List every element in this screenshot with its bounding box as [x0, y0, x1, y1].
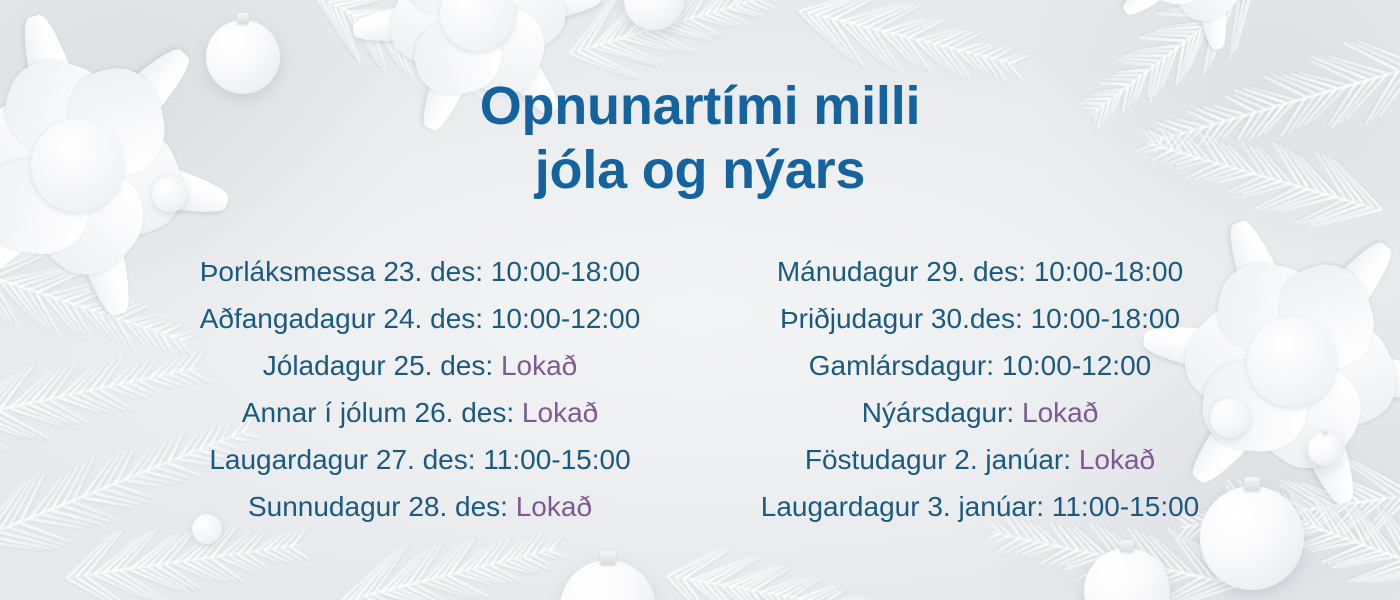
opening-hours-closed: Lokað [516, 491, 592, 522]
opening-hours-day: Sunnudagur 28. des: [248, 491, 516, 522]
opening-hours-line: Laugardagur 3. janúar: 11:00-15:00 [700, 483, 1260, 530]
opening-hours-time: 10:00-18:00 [1034, 256, 1183, 287]
opening-hours-time: 10:00-18:00 [1031, 303, 1180, 334]
opening-hours-line: Nýársdagur: Lokað [700, 389, 1260, 436]
opening-hours-day: Laugardagur 3. janúar: [761, 491, 1052, 522]
page-title: Opnunartími milli jóla og nýars [0, 74, 1400, 202]
title-line-2: jóla og nýars [0, 138, 1400, 202]
opening-hours-columns: Þorláksmessa 23. des: 10:00-18:00Aðfanga… [0, 248, 1400, 530]
opening-hours-time: 11:00-15:00 [1052, 491, 1199, 522]
opening-hours-time: 10:00-18:00 [491, 256, 640, 287]
opening-hours-day: Laugardagur 27. des: [209, 444, 483, 475]
opening-hours-line: Aðfangadagur 24. des: 10:00-12:00 [140, 295, 700, 342]
opening-hours-line: Mánudagur 29. des: 10:00-18:00 [700, 248, 1260, 295]
opening-hours-day: Jóladagur 25. des: [263, 350, 501, 381]
opening-hours-day: Annar í jólum 26. des: [242, 397, 522, 428]
opening-hours-line: Þriðjudagur 30.des: 10:00-18:00 [700, 295, 1260, 342]
opening-hours-time: 10:00-12:00 [1002, 350, 1151, 381]
opening-hours-time: 10:00-12:00 [491, 303, 640, 334]
opening-hours-day: Þorláksmessa 23. des: [200, 256, 491, 287]
opening-hours-closed: Lokað [1079, 444, 1155, 475]
opening-hours-closed: Lokað [522, 397, 598, 428]
title-line-1: Opnunartími milli [0, 74, 1400, 138]
opening-hours-line: Jóladagur 25. des: Lokað [140, 342, 700, 389]
opening-hours-day: Nýársdagur: [862, 397, 1022, 428]
opening-hours-right-column: Mánudagur 29. des: 10:00-18:00Þriðjudagu… [700, 248, 1260, 530]
opening-hours-line: Laugardagur 27. des: 11:00-15:00 [140, 436, 700, 483]
opening-hours-day: Föstudagur 2. janúar: [805, 444, 1079, 475]
opening-hours-line: Þorláksmessa 23. des: 10:00-18:00 [140, 248, 700, 295]
opening-hours-day: Gamlársdagur: [809, 350, 1002, 381]
opening-hours-day: Mánudagur 29. des: [777, 256, 1034, 287]
holiday-opening-hours-banner: Opnunartími milli jóla og nýars Þorláksm… [0, 0, 1400, 600]
opening-hours-closed: Lokað [1022, 397, 1098, 428]
opening-hours-line: Föstudagur 2. janúar: Lokað [700, 436, 1260, 483]
opening-hours-time: 11:00-15:00 [483, 444, 630, 475]
opening-hours-line: Annar í jólum 26. des: Lokað [140, 389, 700, 436]
opening-hours-line: Gamlársdagur: 10:00-12:00 [700, 342, 1260, 389]
opening-hours-day: Þriðjudagur 30.des: [780, 303, 1031, 334]
opening-hours-closed: Lokað [501, 350, 577, 381]
opening-hours-left-column: Þorláksmessa 23. des: 10:00-18:00Aðfanga… [140, 248, 700, 530]
opening-hours-day: Aðfangadagur 24. des: [200, 303, 491, 334]
banner-content: Opnunartími milli jóla og nýars Þorláksm… [0, 0, 1400, 600]
opening-hours-line: Sunnudagur 28. des: Lokað [140, 483, 700, 530]
